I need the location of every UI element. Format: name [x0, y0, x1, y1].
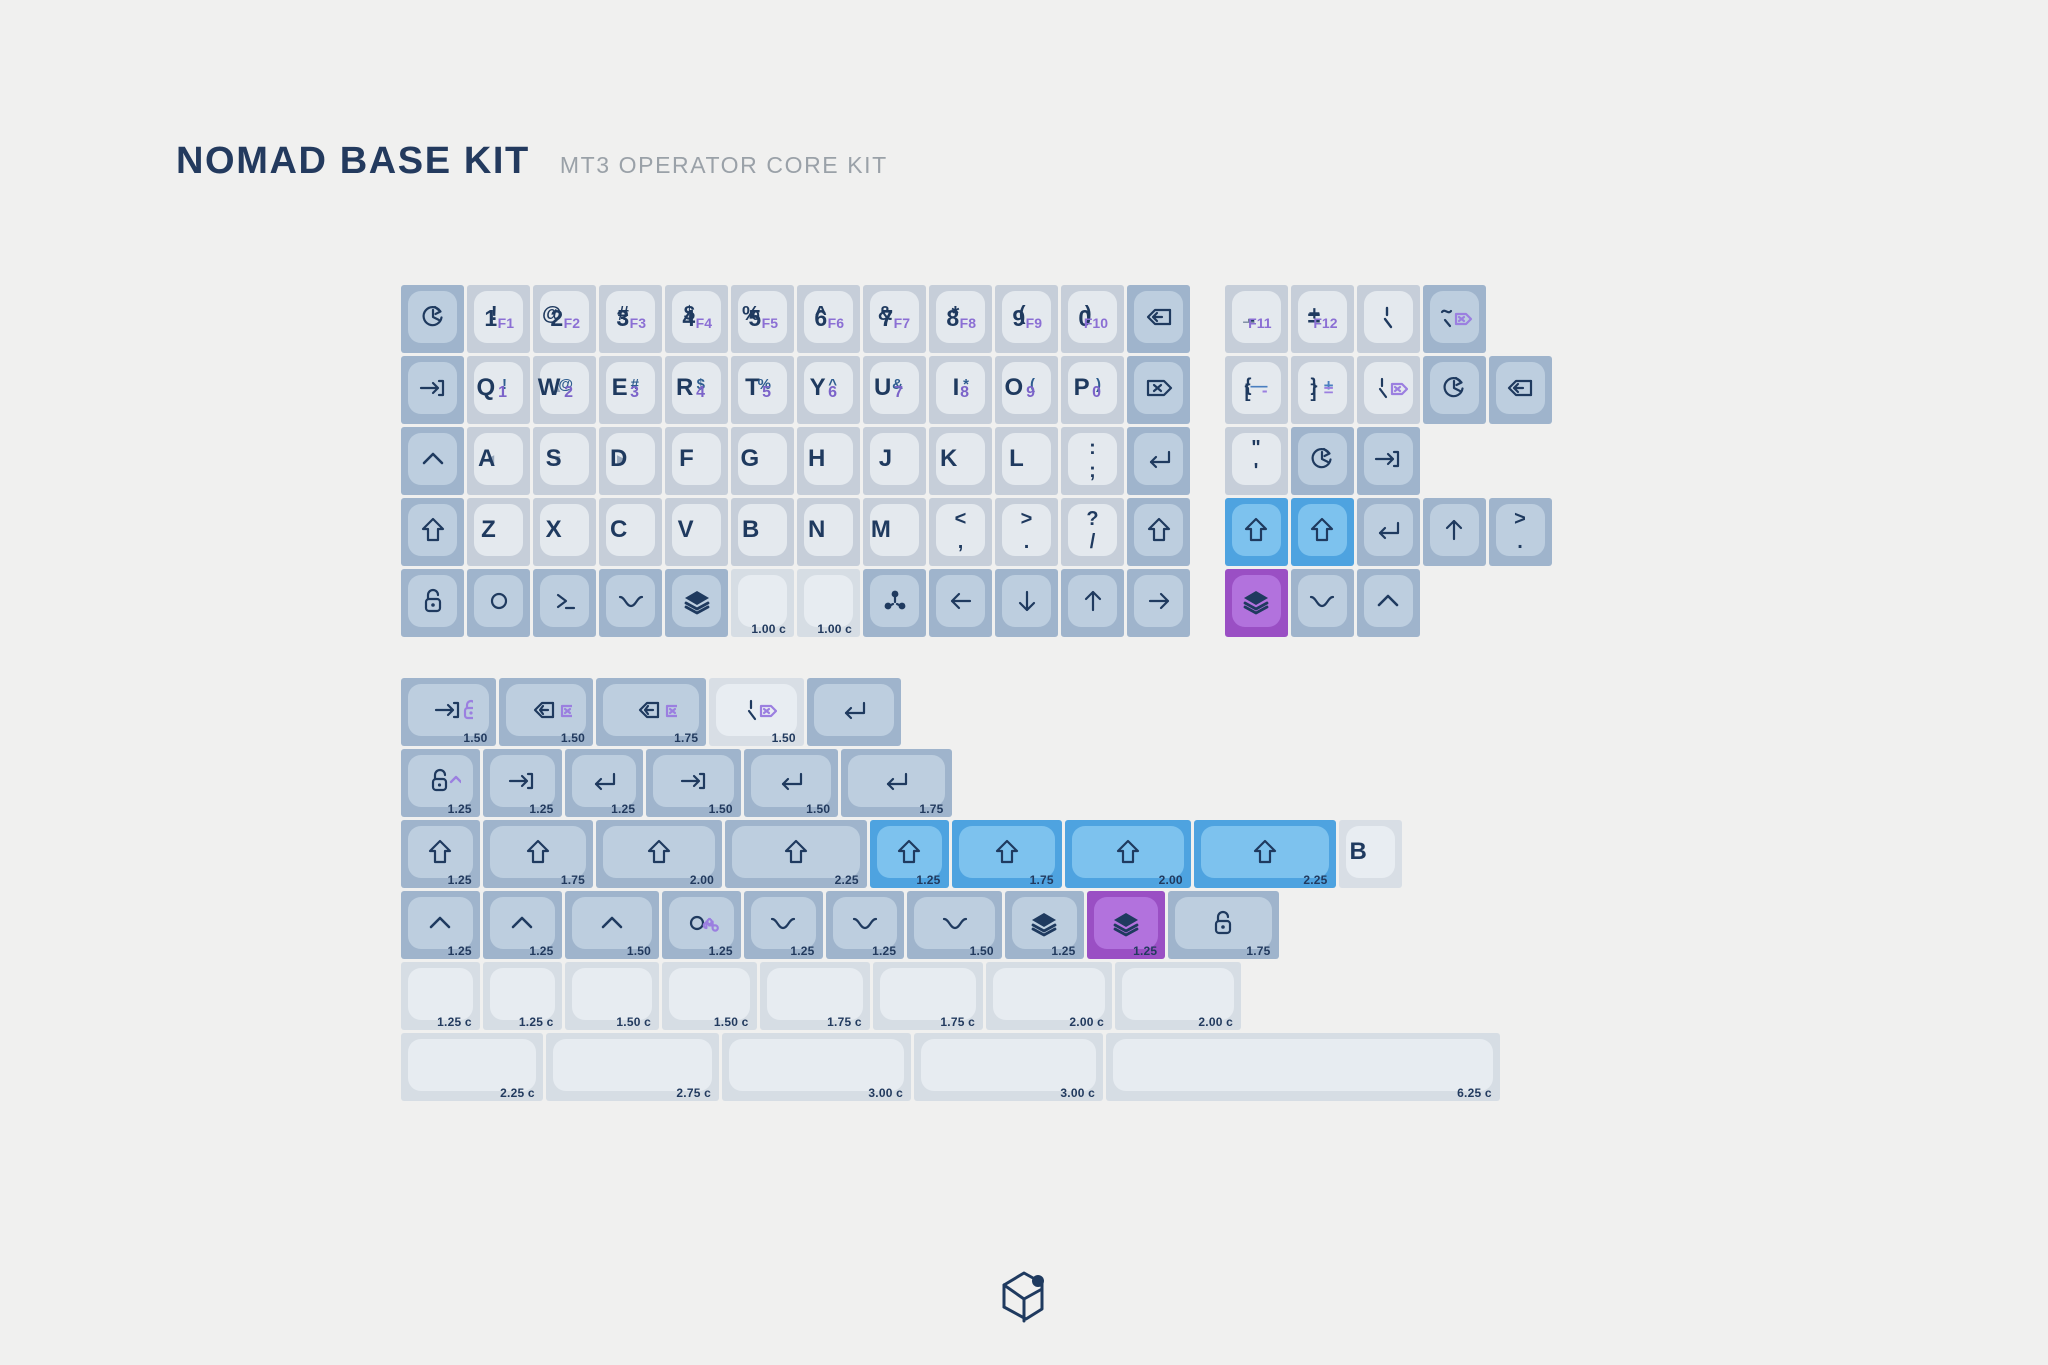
keycap-shift-175[interactable]: 1.75 [483, 820, 593, 888]
row-r4: R4ZXCVBNM<,>.?/>. [176, 498, 1555, 566]
row-keys-mod-r5: 1.251.251.501.251.251.251.501.251.251.75 [401, 891, 1282, 959]
keycap-surface: "' [1232, 433, 1281, 485]
pipe-icon [1373, 302, 1403, 332]
keycap-spacebar-125[interactable]: 1.25 c [401, 962, 480, 1030]
legend-fkey: F9 [1026, 315, 1042, 331]
keycap-key-s[interactable]: ▼S [533, 427, 596, 495]
legend-stacked: <, [955, 509, 967, 552]
keycap-size-label: 3.00 c [868, 1086, 903, 1100]
keycap-surface [1134, 433, 1183, 485]
keycap-surface: N [804, 504, 853, 556]
keycap-surface: Z [474, 504, 523, 556]
keycap-surface [1364, 433, 1413, 485]
keycap-size-label: 3.00 c [1060, 1086, 1095, 1100]
keycap-key-v[interactable]: V [665, 498, 728, 566]
keycap-size-label: 1.00 c [817, 622, 852, 636]
keycap-shift-125[interactable]: 1.25 [401, 820, 480, 888]
keycap-size-label: 1.25 [529, 944, 553, 958]
keycap-surface: {[—- [1232, 362, 1281, 414]
legend-letter: I [953, 374, 960, 402]
legend-fkey: F2 [564, 315, 580, 331]
shift-icon [1113, 837, 1143, 867]
keycap-surface [921, 1039, 1096, 1091]
keycap-delete[interactable] [1127, 356, 1190, 424]
keycap-surface [408, 968, 473, 1020]
legend-dual: +=F12 [1298, 291, 1347, 343]
legend-bottom-right: - [1262, 381, 1268, 401]
keycap-layers-125[interactable]: 1.25 [1005, 891, 1084, 959]
keycap-iso-enter[interactable] [807, 678, 902, 746]
legend-alpha: B [1346, 826, 1395, 878]
keycap-size-label: 2.75 c [676, 1086, 711, 1100]
keycap-size-label: 2.25 [1303, 873, 1327, 887]
row-sb1: SB1.25 c1.25 c1.50 c1.50 c1.75 c1.75 c2.… [176, 962, 1555, 1030]
page-header: NOMAD BASE KIT MT3 OPERATOR CORE KIT [176, 140, 888, 183]
shift-icon [1144, 515, 1174, 545]
keycap-surface: C [606, 504, 655, 556]
keycap-key-quote[interactable]: "' [1225, 427, 1288, 495]
keycap-size-label: 1.25 [448, 802, 472, 816]
keycap-node-share[interactable] [863, 569, 926, 637]
legend-alpha: E#3 [606, 362, 655, 414]
keycap-key-h[interactable]: H [797, 427, 860, 495]
keycap-blank-2[interactable]: 1.00 c [797, 569, 860, 637]
backspace-icon [1141, 302, 1177, 332]
keycap-shift-accent-1[interactable] [1225, 498, 1288, 566]
row-mod-r3: R31.251.251.251.501.501.75 [176, 749, 1555, 817]
legend-fkey: F10 [1084, 315, 1108, 331]
legend-upper: > [1514, 509, 1526, 529]
row-keys-r5: 1.00 c1.00 c [401, 569, 1423, 637]
legend-subscript: 1 [498, 384, 507, 402]
keycap-blank-1[interactable]: 1.00 c [731, 569, 794, 637]
keycap-size-label: 1.25 [529, 802, 553, 816]
shift-icon [1307, 515, 1337, 545]
shift-icon [418, 515, 448, 545]
keycap-key-a[interactable]: ◀A [467, 427, 530, 495]
keycap-size-label: 1.75 c [940, 1015, 975, 1029]
keycap-key-p[interactable]: P)0 [1061, 356, 1124, 424]
legend-number: *8F8 [936, 291, 985, 343]
keycap-command-circle[interactable] [467, 569, 530, 637]
legend-alpha: Q!1 [474, 362, 523, 414]
keycap-key-j[interactable]: Jscooped [863, 427, 926, 495]
keycap-key-c[interactable]: C [599, 498, 662, 566]
tab-icon [505, 766, 539, 796]
legend-lower: . [1024, 532, 1030, 552]
keycap-key-8[interactable]: *8F8 [929, 285, 992, 353]
legend-alpha: R$4 [672, 362, 721, 414]
keycap-key-greater[interactable]: >. [1489, 498, 1552, 566]
keycap-key-minus[interactable]: _-F11 [1225, 285, 1288, 353]
delete-tag-icon [1142, 373, 1176, 403]
legend-subscript: 4 [696, 384, 705, 402]
backspace-icon [1502, 373, 1538, 403]
keycap-arrow-down[interactable] [995, 569, 1058, 637]
keycap-enter-150[interactable]: 1.50 [744, 749, 839, 817]
keycap-key-7[interactable]: &7F7 [863, 285, 926, 353]
page-title: NOMAD BASE KIT [176, 140, 530, 183]
keycap-esc-reload[interactable] [401, 285, 464, 353]
keycap-size-label: 1.50 [627, 944, 651, 958]
keycap-size-label: 1.25 [872, 944, 896, 958]
keycap-surface [1430, 291, 1479, 343]
shift-icon [1250, 837, 1280, 867]
keycap-key-e[interactable]: E#3 [599, 356, 662, 424]
keycap-surface [572, 897, 653, 949]
keycap-backspace[interactable] [1127, 285, 1190, 353]
keycap-key-n[interactable]: N [797, 498, 860, 566]
keycap-spacebar-300[interactable]: 3.00 c [722, 1033, 911, 1101]
keycap-key-t[interactable]: T%5 [731, 356, 794, 424]
keycap-arrow-up[interactable] [1061, 569, 1124, 637]
keycap-option[interactable] [599, 569, 662, 637]
legend-digit: 6 [814, 305, 827, 332]
tab-lock-icon [423, 695, 473, 725]
keycap-size-label: 1.25 [1133, 944, 1157, 958]
keycap-surface [804, 575, 853, 627]
enter-icon [880, 766, 912, 796]
keycap-key-comma[interactable]: <, [929, 498, 992, 566]
keycap-surface: <, [936, 504, 985, 556]
keycap-terminal[interactable] [533, 569, 596, 637]
legend-stacked: >. [1514, 509, 1526, 552]
row-label-sb1: SB [176, 962, 401, 1030]
keycap-key-1[interactable]: !1F1 [467, 285, 530, 353]
legend-alpha: Z [474, 504, 523, 556]
keycap-surface: U&7 [870, 362, 919, 414]
keycap-shift-right[interactable] [1127, 498, 1190, 566]
backspace-tag-icon [520, 695, 572, 725]
keycap-size-label: 2.00 c [1198, 1015, 1233, 1029]
row-label-mod-r5: R5 [176, 891, 401, 959]
legend-number: #3F3 [606, 291, 655, 343]
row-label-sb2: SB [176, 1033, 401, 1101]
legend-letter: V [678, 516, 694, 544]
keycap-surface: L [1002, 433, 1051, 485]
keycap-size-label: 1.25 c [437, 1015, 472, 1029]
keycap-key-f[interactable]: Fscooped [665, 427, 728, 495]
row-label-r4: R4 [176, 498, 401, 566]
legend-subscript: 7 [894, 384, 903, 402]
keycap-surface: }]+= [1298, 362, 1347, 414]
enter-icon [775, 766, 807, 796]
keycap-spacebar-150[interactable]: 1.50 c [565, 962, 660, 1030]
legend-letter: W [538, 374, 561, 402]
brand-logo [984, 1255, 1064, 1335]
keycap-backspace-150[interactable]: 1.50 [499, 678, 594, 746]
keycap-size-label: 1.25 [1051, 944, 1075, 958]
legend-alpha: K [936, 433, 985, 485]
legend-letter: K [940, 445, 957, 473]
keycap-surface: +=F12 [1298, 291, 1347, 343]
keycap-key-x[interactable]: X [533, 498, 596, 566]
keycap-spacebar-275[interactable]: 2.75 c [546, 1033, 719, 1101]
keycap-surface: K [936, 433, 985, 485]
keycap-surface [408, 575, 457, 627]
enter-icon [1143, 444, 1175, 474]
keycap-key-period[interactable]: >. [995, 498, 1058, 566]
keycap-option-125-b[interactable]: 1.25 [826, 891, 905, 959]
legend-alpha: H [804, 433, 853, 485]
keycap-surface: M [870, 504, 919, 556]
keycap-tab[interactable] [401, 356, 464, 424]
keycap-caps-125[interactable]: 1.25 [401, 749, 480, 817]
keycap-backspace-2[interactable] [1489, 356, 1552, 424]
keycap-surface: Q!1 [474, 362, 523, 414]
keycap-spacebar-175[interactable]: 1.75 c [760, 962, 870, 1030]
keycap-tab-150[interactable]: 1.50 [646, 749, 741, 817]
keycap-spacebar-125-b[interactable]: 1.25 c [483, 962, 562, 1030]
legend-alpha: L [1002, 433, 1051, 485]
keycap-board: R1!1F1@2F2#3F3$4F4%5F5^6F6&7F7*8F8(9F9)0… [176, 285, 1555, 1104]
keycap-surface: >. [1496, 504, 1545, 556]
keycap-shift-blue-200[interactable]: 2.00 [1065, 820, 1191, 888]
keycap-key-o[interactable]: O(9 [995, 356, 1058, 424]
keycap-key-i[interactable]: I*8 [929, 356, 992, 424]
keycap-key-w[interactable]: ▲W@2 [533, 356, 596, 424]
keycap-key-backslash[interactable] [1357, 285, 1420, 353]
keycap-surface [1298, 433, 1347, 485]
legend-alpha: G [738, 433, 787, 485]
keycap-surface [1430, 504, 1479, 556]
legend-alpha: Y^6 [804, 362, 853, 414]
row-label-mod-r4: R4 [176, 820, 401, 888]
keycap-shift-blue-175[interactable]: 1.75 [952, 820, 1062, 888]
keycap-key-4[interactable]: $4F4 [665, 285, 728, 353]
legend-alpha: ▼S [540, 433, 589, 485]
caret-up-icon [507, 908, 537, 938]
keycap-caret-up[interactable] [1357, 569, 1420, 637]
keycap-shift-left[interactable] [401, 498, 464, 566]
keycap-option-150[interactable]: 1.50 [907, 891, 1002, 959]
keycap-surface [669, 897, 734, 949]
legend-bracket: }]+= [1298, 362, 1347, 414]
arrow-up-icon [1078, 586, 1108, 616]
keycap-key-2[interactable]: @2F2 [533, 285, 596, 353]
caret-up-icon [425, 908, 455, 938]
legend-subscript: 5 [762, 384, 771, 402]
legend-digit: 9 [1012, 305, 1025, 332]
legend-upper: > [1021, 509, 1033, 529]
legend-digit: 1 [484, 305, 497, 332]
keycap-key-m[interactable]: M [863, 498, 926, 566]
reload-icon [1439, 373, 1469, 403]
keycap-arrow-up[interactable] [1423, 498, 1486, 566]
keycap-enter-175[interactable]: 1.75 [841, 749, 951, 817]
legend-letter: M [871, 516, 891, 544]
keycap-surface [408, 1039, 536, 1091]
keycap-option[interactable] [1291, 569, 1354, 637]
legend-letter: D [610, 445, 627, 473]
keycap-backslash-150[interactable]: 1.50 [709, 678, 804, 746]
keycap-tab-125[interactable]: 1.25 [483, 749, 562, 817]
keycap-surface [672, 575, 721, 627]
legend-number: $4F4 [672, 291, 721, 343]
keycap-shift-blue-225[interactable]: 2.25 [1194, 820, 1336, 888]
keycap-surface [603, 826, 715, 878]
shift-icon [425, 837, 455, 867]
keycap-size-label: 1.75 c [827, 1015, 862, 1029]
keycap-key-k[interactable]: K [929, 427, 992, 495]
row-r3: R3◀A▼S▶DFscoopedGHJscoopedKL:;"' [176, 427, 1555, 495]
keycap-surface [540, 575, 589, 627]
keycap-key-3[interactable]: #3F3 [599, 285, 662, 353]
keycap-shift-225[interactable]: 2.25 [725, 820, 867, 888]
keycap-surface [408, 362, 457, 414]
keycap-layers-accent[interactable] [1225, 569, 1288, 637]
keycap-shift-200[interactable]: 2.00 [596, 820, 722, 888]
keycap-cmd-125[interactable]: 1.25 [662, 891, 741, 959]
keycap-key-backslash-del[interactable] [1357, 356, 1420, 424]
keycap-shift-accent-2[interactable] [1291, 498, 1354, 566]
keycap-surface [959, 826, 1055, 878]
arrow-down-icon [1012, 586, 1042, 616]
keycap-size-label: 1.50 [463, 731, 487, 745]
row-spacer [1193, 427, 1225, 495]
keycap-layers-purple-125[interactable]: 1.25 [1087, 891, 1166, 959]
keycap-size-label: 1.75 [1030, 873, 1054, 887]
caret-up-icon [1373, 586, 1403, 616]
keycap-surface [1134, 575, 1183, 627]
keycap-key-semicolon[interactable]: :; [1061, 427, 1124, 495]
keycap-surface: P)0 [1068, 362, 1117, 414]
keycap-ctrl-125-b[interactable]: 1.25 [483, 891, 562, 959]
legend-dual: _-F11 [1232, 291, 1281, 343]
keycap-lock[interactable] [401, 569, 464, 637]
keycap-key-lbracket[interactable]: {[—- [1225, 356, 1288, 424]
keycap-surface [1094, 897, 1159, 949]
legend-bracket: {[—- [1232, 362, 1281, 414]
tab-icon [677, 766, 711, 796]
legend-number: %5F5 [738, 291, 787, 343]
keycap-size-label: 1.25 [611, 802, 635, 816]
row-label-mod-r2: R2 [176, 678, 401, 746]
keycap-enter[interactable] [1357, 498, 1420, 566]
shift-icon [523, 837, 553, 867]
keycap-spacebar-300-b[interactable]: 3.00 c [914, 1033, 1103, 1101]
keycap-key-0[interactable]: )0F10 [1061, 285, 1124, 353]
keycap-size-label: 2.25 [835, 873, 859, 887]
legend-alpha: P)0 [1068, 362, 1117, 414]
keycap-backspace-175[interactable]: 1.75 [596, 678, 706, 746]
keycap-size-label: 1.25 [709, 944, 733, 958]
shift-icon [781, 837, 811, 867]
legend-letter: X [546, 516, 562, 544]
legend-fkey: F1 [498, 315, 514, 331]
legend-alpha: J [870, 433, 919, 485]
keycap-surface [553, 1039, 712, 1091]
legend-letter: L [1009, 445, 1024, 473]
keycap-size-label: 2.00 [690, 873, 714, 887]
iso-enter-icon [838, 695, 870, 725]
keycap-surface: V [672, 504, 721, 556]
legend-letter: J [879, 445, 892, 473]
keycap-surface: _-F11 [1232, 291, 1281, 343]
keycap-surface: :; [1068, 433, 1117, 485]
keycap-spacebar-150-b[interactable]: 1.50 c [662, 962, 757, 1030]
row-label-r5: R5 [176, 569, 401, 637]
keycap-surface [870, 575, 919, 627]
keycap-spacebar-200-b[interactable]: 2.00 c [1115, 962, 1241, 1030]
legend-fkey: F4 [696, 315, 712, 331]
keycap-key-b-extra[interactable]: B [1339, 820, 1402, 888]
keycap-tab-150[interactable]: 1.50 [401, 678, 496, 746]
legend-alpha: U&7 [870, 362, 919, 414]
legend-subscript: 3 [630, 384, 639, 402]
keycap-key-g[interactable]: G [731, 427, 794, 495]
keycap-enter-125[interactable]: 1.25 [565, 749, 644, 817]
keycap-key-q[interactable]: Q!1 [467, 356, 530, 424]
keycap-surface: R$4 [672, 362, 721, 414]
keycap-key-equal[interactable]: +=F12 [1291, 285, 1354, 353]
keycap-key-z[interactable]: Z [467, 498, 530, 566]
keycap-ctrl-150[interactable]: 1.50 [565, 891, 660, 959]
keycap-surface [877, 826, 942, 878]
keycap-key-slash[interactable]: ?/ [1061, 498, 1124, 566]
keycap-key-6[interactable]: ^6F6 [797, 285, 860, 353]
keycap-caps-lock[interactable] [401, 427, 464, 495]
keycap-key-l[interactable]: L [995, 427, 1058, 495]
row-sb2: SB2.25 c2.75 c3.00 c3.00 c6.25 c [176, 1033, 1555, 1101]
keycap-option-125-a[interactable]: 1.25 [744, 891, 823, 959]
keycap-arrow-left[interactable] [929, 569, 992, 637]
lock-caret-icon [419, 766, 461, 796]
keycap-spacebar-625[interactable]: 6.25 c [1106, 1033, 1500, 1101]
keycap-size-label: 1.50 [970, 944, 994, 958]
legend-number: ^6F6 [804, 291, 853, 343]
legend-number: @2F2 [540, 291, 589, 343]
legend-letter: G [740, 445, 759, 473]
keycap-enter[interactable] [1127, 427, 1190, 495]
keycap-key-5[interactable]: %5F5 [731, 285, 794, 353]
keycap-key-b[interactable]: B [731, 498, 794, 566]
keycap-reload[interactable] [1423, 356, 1486, 424]
keycap-spacebar-200[interactable]: 2.00 c [986, 962, 1112, 1030]
keycap-size-label: 1.50 [561, 731, 585, 745]
tab-icon [1371, 444, 1405, 474]
legend-digit: 2 [550, 305, 563, 332]
keycap-key-9[interactable]: (9F9 [995, 285, 1058, 353]
keycap-key-rbracket[interactable]: }]+= [1291, 356, 1354, 424]
row-mod-r4: R41.251.752.002.251.251.752.002.25B [176, 820, 1555, 888]
keycap-surface [1364, 291, 1413, 343]
keycap-size-label: 6.25 c [1457, 1086, 1492, 1100]
keycap-key-d[interactable]: ▶D [599, 427, 662, 495]
keycap-key-y[interactable]: Y^6 [797, 356, 860, 424]
keycap-arrow-right[interactable] [1127, 569, 1190, 637]
keycap-surface [1298, 575, 1347, 627]
row-spacer [1193, 498, 1225, 566]
tab-icon [416, 373, 450, 403]
keycap-tab[interactable] [1357, 427, 1420, 495]
keycap-key-r[interactable]: R$4 [665, 356, 728, 424]
keycap-reload[interactable] [1291, 427, 1354, 495]
keycap-surface [572, 968, 653, 1020]
keycap-shift-blue-125[interactable]: 1.25 [870, 820, 949, 888]
keycap-key-u[interactable]: U&7 [863, 356, 926, 424]
keycap-ctrl-125-a[interactable]: 1.25 [401, 891, 480, 959]
legend-letter: A [478, 445, 495, 473]
keycap-surface [669, 968, 750, 1020]
keycap-key-grave[interactable] [1423, 285, 1486, 353]
keycap-layers[interactable] [665, 569, 728, 637]
keycap-lock-175[interactable]: 1.75 [1168, 891, 1278, 959]
keycap-surface [751, 755, 832, 807]
keycap-size-label: 1.75 [674, 731, 698, 745]
keycap-spacebar-225[interactable]: 2.25 c [401, 1033, 543, 1101]
keycap-spacebar-175-b[interactable]: 1.75 c [873, 962, 983, 1030]
